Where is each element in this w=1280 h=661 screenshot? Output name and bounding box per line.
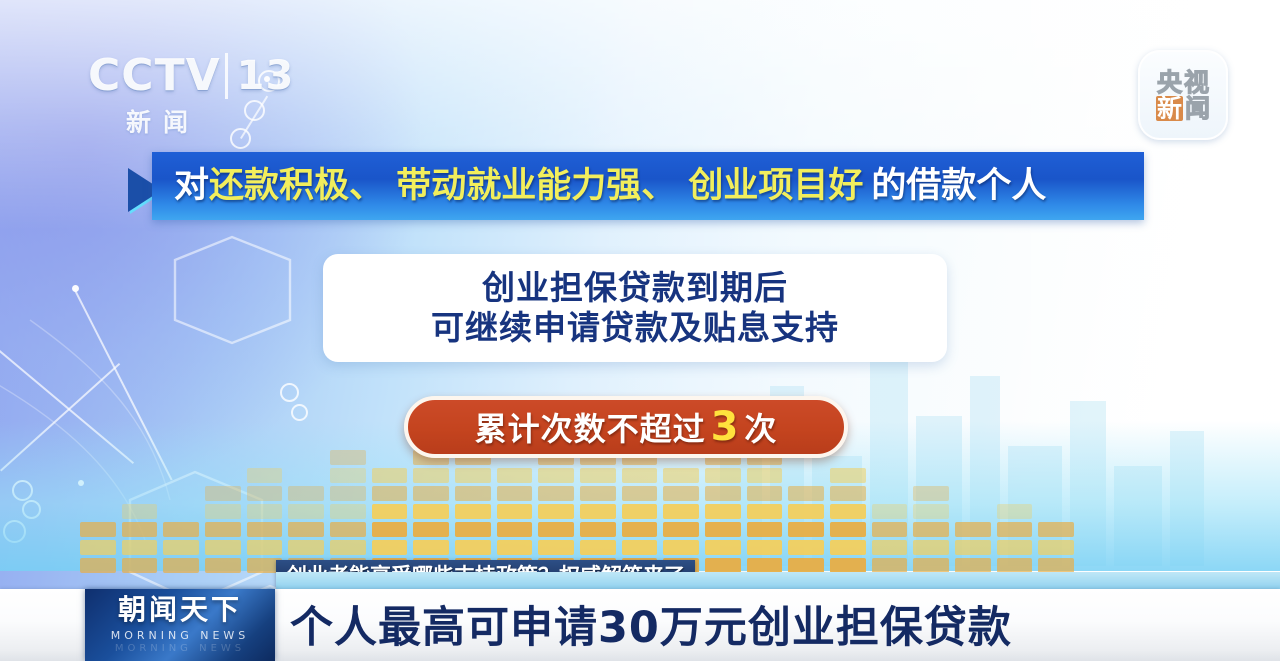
gold-bar — [997, 522, 1033, 537]
gold-bar — [872, 504, 908, 519]
gold-bar — [413, 522, 449, 537]
gold-bar — [455, 540, 491, 555]
gold-bar — [372, 540, 408, 555]
progress-strip — [276, 572, 1280, 589]
gold-bar — [372, 522, 408, 537]
gold-bar — [663, 468, 699, 483]
banner-prefix: 对 — [174, 169, 209, 204]
gold-bar — [663, 486, 699, 501]
gold-bar — [705, 522, 741, 537]
gold-bar — [413, 468, 449, 483]
gold-bar — [830, 486, 866, 501]
gold-bar — [830, 468, 866, 483]
gold-bar — [455, 504, 491, 519]
app-logo-char-4: 闻 — [1185, 96, 1210, 121]
gold-bar — [788, 540, 824, 555]
gold-bar-column — [122, 504, 158, 573]
gold-bar — [247, 522, 283, 537]
program-name-en-shadow: MORNING NEWS — [115, 643, 245, 654]
gold-bar-column — [330, 450, 366, 573]
gold-bar — [580, 522, 616, 537]
gold-bar — [413, 486, 449, 501]
gold-bar — [747, 540, 783, 555]
gold-bar — [80, 558, 116, 573]
gold-bar-column — [872, 504, 908, 573]
gold-bar — [288, 486, 324, 501]
gold-bar — [122, 558, 158, 573]
gold-bar — [622, 540, 658, 555]
headline-text: 个人最高可申请30万元创业担保贷款 — [290, 593, 1012, 655]
gold-bar — [622, 522, 658, 537]
gold-bar — [80, 522, 116, 537]
gold-bar — [538, 522, 574, 537]
gold-bar — [122, 540, 158, 555]
gold-bar — [80, 540, 116, 555]
app-logo-char-3: 新 — [1156, 96, 1183, 121]
gold-bar — [122, 504, 158, 519]
gold-bar-column — [205, 486, 241, 573]
gold-bar — [872, 558, 908, 573]
gold-bar — [705, 486, 741, 501]
gold-bar — [163, 558, 199, 573]
broadcast-screenshot: CCTV 13 新闻 央 视 新 闻 对 还款积极、 带动就业能力强、 创业项目… — [0, 0, 1280, 661]
gold-bar — [622, 486, 658, 501]
gold-bar — [247, 468, 283, 483]
gold-bar — [622, 504, 658, 519]
banner-suffix: 的借款个人 — [871, 169, 1046, 204]
gold-bar — [163, 522, 199, 537]
gold-bar — [747, 522, 783, 537]
gold-bar — [830, 558, 866, 573]
gold-bar — [580, 468, 616, 483]
gold-bar-column — [747, 450, 783, 573]
gold-bar — [788, 486, 824, 501]
cctv-news-app-logo: 央 视 新 闻 — [1138, 50, 1228, 140]
gold-bar — [455, 468, 491, 483]
gold-bar — [830, 504, 866, 519]
gold-bar — [955, 540, 991, 555]
gold-bar — [997, 558, 1033, 573]
gold-bar — [247, 504, 283, 519]
gold-bar — [788, 558, 824, 573]
gold-bar — [455, 486, 491, 501]
program-logo: 朝闻天下 MORNING NEWS MORNING NEWS — [85, 589, 275, 661]
gold-bar — [705, 540, 741, 555]
gold-bar-column — [622, 450, 658, 573]
gold-bar — [288, 522, 324, 537]
gold-bar — [372, 486, 408, 501]
gold-bar — [913, 486, 949, 501]
gold-bar — [455, 522, 491, 537]
gold-bar — [1038, 558, 1074, 573]
gold-bar — [663, 540, 699, 555]
gold-bar — [330, 522, 366, 537]
gold-bar — [413, 540, 449, 555]
gold-bar — [497, 522, 533, 537]
gold-bar — [830, 540, 866, 555]
gold-bar — [497, 504, 533, 519]
gold-bar-column — [830, 468, 866, 573]
gold-bar — [497, 468, 533, 483]
gold-bar-column — [455, 450, 491, 573]
cctv-logo-subtitle: 新闻 — [88, 103, 238, 139]
app-logo-char-1: 央 — [1157, 70, 1182, 95]
info-card-line-1: 创业担保贷款到期后 — [482, 270, 788, 306]
gold-bar — [788, 504, 824, 519]
program-name-cn: 朝闻天下 — [118, 596, 242, 624]
cctv13-logo: CCTV 13 新闻 — [88, 50, 268, 140]
program-name-en: MORNING NEWS — [111, 629, 250, 642]
gold-bar-column — [80, 522, 116, 573]
gold-bar — [497, 540, 533, 555]
gold-bar — [913, 504, 949, 519]
gold-bar-column — [788, 486, 824, 573]
gold-bar — [330, 450, 366, 465]
gold-bar — [747, 486, 783, 501]
gold-bar — [580, 540, 616, 555]
gold-bar — [913, 522, 949, 537]
gold-bar-column — [247, 468, 283, 573]
gold-bar — [1038, 522, 1074, 537]
gold-bar — [205, 558, 241, 573]
gold-bar-column — [372, 468, 408, 573]
gold-bar-column — [955, 522, 991, 573]
gold-bar — [538, 540, 574, 555]
gold-bar — [538, 504, 574, 519]
gold-bar — [330, 468, 366, 483]
headline-banner: 对 还款积极、 带动就业能力强、 创业项目好 的借款个人 — [152, 152, 1144, 220]
gold-bar — [747, 504, 783, 519]
gold-bar — [288, 504, 324, 519]
limit-pill-prefix: 累计次数不超过 — [475, 404, 706, 450]
gold-bar — [997, 540, 1033, 555]
gold-bar — [580, 504, 616, 519]
gold-bar — [1038, 540, 1074, 555]
gold-bar — [663, 504, 699, 519]
limit-pill-suffix: 次 — [744, 404, 777, 450]
gold-bar — [580, 486, 616, 501]
cctv-channel-number: 13 — [225, 53, 304, 99]
cctv-logo-text: CCTV — [88, 50, 221, 101]
gold-bar — [955, 558, 991, 573]
gold-bar-column — [913, 486, 949, 573]
gold-bar — [330, 504, 366, 519]
gold-bar — [538, 486, 574, 501]
gold-bar — [913, 558, 949, 573]
gold-bar — [830, 522, 866, 537]
gold-bar — [247, 540, 283, 555]
gold-bar — [372, 504, 408, 519]
gold-bar-column — [663, 468, 699, 573]
gold-bar — [705, 468, 741, 483]
gold-bar-column — [997, 504, 1033, 573]
gold-bar — [330, 540, 366, 555]
info-card-line-2: 可继续申请贷款及贴息支持 — [431, 310, 839, 346]
gold-bar — [205, 540, 241, 555]
gold-bar — [205, 486, 241, 501]
gold-bar — [122, 522, 158, 537]
gold-bar — [330, 486, 366, 501]
gold-bars-graphic — [80, 363, 1080, 573]
gold-bar — [913, 540, 949, 555]
gold-bar — [288, 540, 324, 555]
gold-bar — [663, 522, 699, 537]
gold-bar-column — [1038, 522, 1074, 573]
gold-bar — [872, 540, 908, 555]
gold-bar — [247, 486, 283, 501]
gold-bar — [788, 522, 824, 537]
gold-bar — [163, 540, 199, 555]
limit-pill: 累计次数不超过 3 次 — [404, 396, 848, 458]
info-card: 创业担保贷款到期后 可继续申请贷款及贴息支持 — [323, 254, 947, 362]
gold-bar — [497, 486, 533, 501]
gold-bar — [747, 558, 783, 573]
gold-bar — [955, 522, 991, 537]
gold-bar — [622, 468, 658, 483]
app-logo-char-2: 视 — [1184, 70, 1209, 95]
gold-bar — [372, 468, 408, 483]
gold-bar-column — [497, 468, 533, 573]
gold-bar — [997, 504, 1033, 519]
gold-bar — [205, 504, 241, 519]
banner-highlight: 还款积极、 带动就业能力强、 创业项目好 — [209, 169, 863, 204]
gold-bar-column — [163, 522, 199, 573]
gold-bar — [747, 468, 783, 483]
limit-pill-number: 3 — [711, 404, 740, 450]
gold-bar — [705, 504, 741, 519]
gold-bar — [413, 504, 449, 519]
gold-bar — [872, 522, 908, 537]
gold-bar — [538, 468, 574, 483]
gold-bar — [705, 558, 741, 573]
gold-bar — [205, 522, 241, 537]
